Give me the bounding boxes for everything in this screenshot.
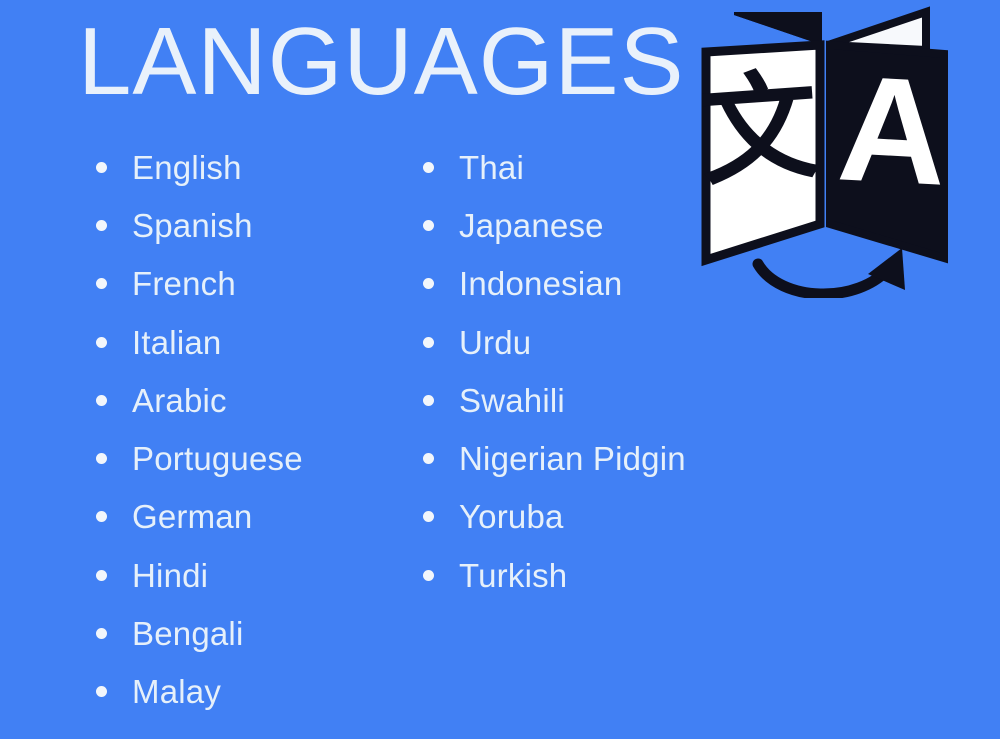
language-label: English	[132, 151, 242, 184]
language-label: Indonesian	[459, 267, 622, 300]
list-item: English	[96, 138, 406, 196]
bullet-icon	[96, 686, 107, 697]
language-label: German	[132, 500, 252, 533]
bullet-icon	[96, 511, 107, 522]
language-label: Nigerian Pidgin	[459, 442, 686, 475]
list-item: Thai	[423, 138, 713, 196]
bullet-icon	[423, 220, 434, 231]
bullet-icon	[96, 162, 107, 173]
language-label: Swahili	[459, 384, 565, 417]
bullet-icon	[423, 453, 434, 464]
bullet-icon	[423, 570, 434, 581]
list-item: Bengali	[96, 604, 406, 662]
translate-arrow-icon	[758, 264, 890, 294]
list-item: Portuguese	[96, 429, 406, 487]
language-column-right: Thai Japanese Indonesian Urdu Swahili Ni…	[423, 138, 713, 604]
language-label: Urdu	[459, 326, 531, 359]
language-label: Thai	[459, 151, 524, 184]
language-label: Hindi	[132, 559, 208, 592]
list-item: Spanish	[96, 196, 406, 254]
language-label: Japanese	[459, 209, 604, 242]
bullet-icon	[96, 278, 107, 289]
language-label: Arabic	[132, 384, 227, 417]
translate-left-back-panel-fill	[734, 12, 822, 45]
translate-left-glyph: 文	[695, 56, 822, 202]
list-item: Malay	[96, 663, 406, 721]
translate-icon: 文 A	[694, 2, 956, 298]
language-label: Turkish	[459, 559, 567, 592]
bullet-icon	[423, 162, 434, 173]
language-columns: English Spanish French Italian Arabic Po…	[0, 138, 700, 728]
bullet-icon	[96, 628, 107, 639]
list-item: Nigerian Pidgin	[423, 429, 713, 487]
translate-right-glyph: A	[834, 43, 951, 216]
bullet-icon	[423, 337, 434, 348]
bullet-icon	[423, 395, 434, 406]
list-item: Indonesian	[423, 255, 713, 313]
list-item: Turkish	[423, 546, 713, 604]
bullet-icon	[96, 337, 107, 348]
list-item: German	[96, 488, 406, 546]
language-list-graphic: LANGUAGES English Spanish French Italian	[0, 0, 1000, 739]
list-item: Japanese	[423, 196, 713, 254]
list-item: Arabic	[96, 371, 406, 429]
language-label: Italian	[132, 326, 221, 359]
language-label: Spanish	[132, 209, 253, 242]
language-label: French	[132, 267, 236, 300]
list-item: Yoruba	[423, 488, 713, 546]
language-column-left: English Spanish French Italian Arabic Po…	[96, 138, 406, 721]
list-item: French	[96, 255, 406, 313]
bullet-icon	[423, 278, 434, 289]
list-item: Hindi	[96, 546, 406, 604]
language-label: Yoruba	[459, 500, 564, 533]
page-title: LANGUAGES	[78, 7, 685, 117]
bullet-icon	[423, 511, 434, 522]
list-item: Swahili	[423, 371, 713, 429]
list-item: Urdu	[423, 313, 713, 371]
list-item: Italian	[96, 313, 406, 371]
language-label: Bengali	[132, 617, 244, 650]
bullet-icon	[96, 220, 107, 231]
bullet-icon	[96, 395, 107, 406]
bullet-icon	[96, 570, 107, 581]
language-label: Malay	[132, 675, 221, 708]
language-label: Portuguese	[132, 442, 303, 475]
bullet-icon	[96, 453, 107, 464]
